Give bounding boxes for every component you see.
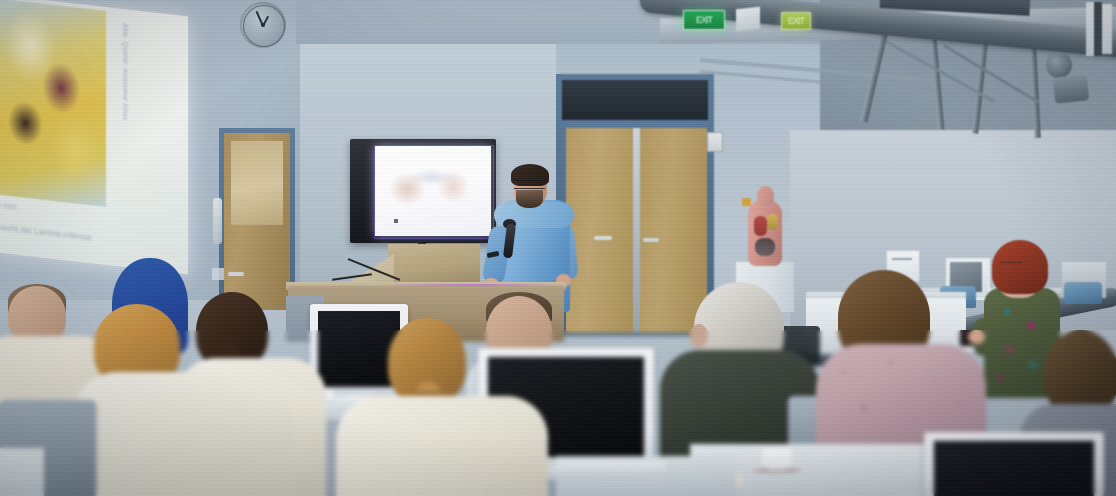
projection-caption-line-1: 15 mm — [0, 200, 16, 212]
whiteboard-marking — [892, 258, 912, 260]
anatomical-model-tag — [742, 198, 751, 206]
presenter-beard — [516, 190, 543, 208]
attendee-8-glasses-icon — [1000, 262, 1022, 268]
presenter-glasses-icon — [514, 180, 545, 189]
keyboard-centre[interactable] — [556, 462, 666, 476]
monitor-right-screen — [934, 441, 1094, 496]
double-door-transom — [562, 80, 708, 122]
attendee-6-ear — [690, 324, 708, 348]
double-door-right-leaf[interactable] — [639, 128, 707, 333]
attendee-4-lab-coat — [336, 396, 548, 496]
monitor-foreground-left — [0, 448, 44, 496]
anatomical-model-organ — [767, 214, 778, 230]
ceiling-light-slat — [1102, 4, 1112, 54]
anatomical-model-head — [757, 186, 774, 206]
double-door-left-leaf[interactable] — [566, 128, 634, 333]
wall-switch-plate[interactable] — [212, 268, 224, 280]
ceiling-sensor-box — [736, 7, 760, 32]
clock-center — [261, 23, 265, 27]
projection-caption-line-2: Ansicht der Lamina cribrosa — [0, 222, 91, 242]
rear-blue-chair[interactable] — [1064, 282, 1102, 304]
wall-light-fixture — [213, 198, 222, 244]
anatomical-model-organ — [754, 216, 767, 236]
fire-equipment-sign-icon — [707, 132, 723, 152]
double-door-handle-left[interactable] — [594, 236, 612, 240]
attendee-8-hand — [968, 330, 985, 344]
left-door-glass-panel — [231, 141, 283, 225]
left-door-handle[interactable] — [228, 272, 244, 276]
double-door-lintel — [560, 120, 710, 128]
wall-clock-icon — [240, 2, 286, 48]
double-door-handle-right[interactable] — [643, 238, 659, 242]
exit-sign-icon: EXIT — [683, 10, 725, 30]
wall-projection: Abb. Quelle: Anatomie Atlas 15 mm Ansich… — [0, 0, 188, 274]
projection-vertical-caption: Abb. Quelle: Anatomie Atlas — [114, 22, 128, 202]
presentation-slide-marker — [394, 219, 398, 223]
exit-sign-label: EXIT — [684, 11, 724, 29]
attendee-2-lab-coat — [72, 372, 292, 496]
double-door-gap — [633, 128, 640, 333]
anatomical-model-organ — [755, 238, 775, 256]
truss-node-icon — [1046, 52, 1072, 78]
presentation-slide-image — [388, 160, 476, 218]
truss-bracket — [1053, 74, 1090, 103]
ceiling-slat-shadow — [1094, 2, 1102, 56]
photograph-lecture-hall: EXIT EXIT Abb. Quelle: Anatomie Atlas 15… — [0, 0, 1116, 496]
coffee-cup — [762, 448, 792, 470]
exit-sign-label-secondary: EXIT — [782, 13, 810, 29]
projection-slide-image — [0, 0, 106, 207]
exit-sign-icon-secondary: EXIT — [781, 12, 811, 30]
